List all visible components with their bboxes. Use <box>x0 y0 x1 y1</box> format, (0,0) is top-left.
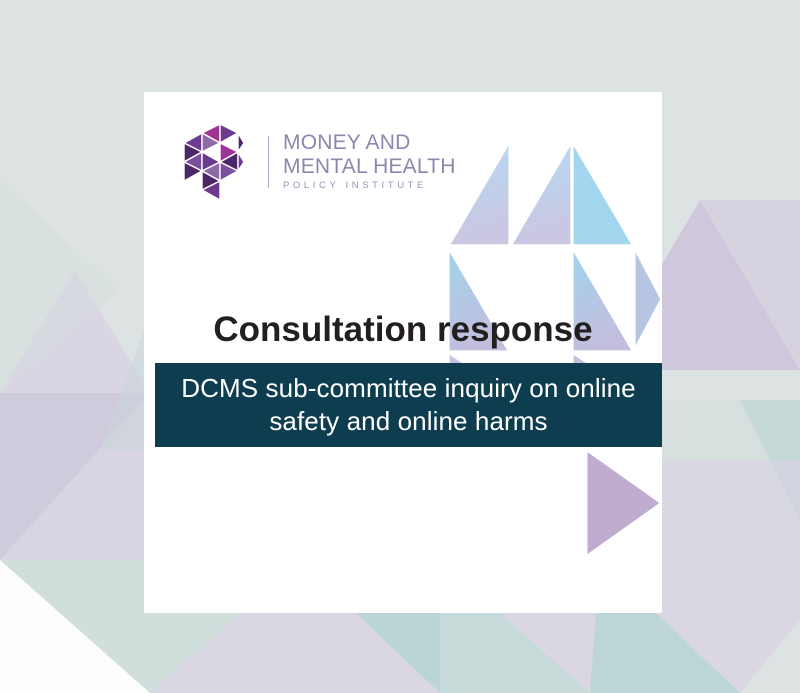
logo-subline: POLICY INSTITUTE <box>283 180 456 192</box>
money-mental-health-hexagon-mark-icon <box>178 124 250 200</box>
logo-wordmark: MONEY AND MENTAL HEALTH POLICY INSTITUTE <box>283 132 456 192</box>
subtitle-banner: DCMS sub-committee inquiry on online saf… <box>155 363 662 447</box>
logo-line-1: MONEY AND <box>283 132 456 153</box>
document-subtitle: DCMS sub-committee inquiry on online saf… <box>169 372 649 438</box>
logo-divider <box>268 136 269 188</box>
logo: MONEY AND MENTAL HEALTH POLICY INSTITUTE <box>178 124 456 200</box>
document-title: Consultation response <box>144 310 662 350</box>
screenshot-canvas: MONEY AND MENTAL HEALTH POLICY INSTITUTE… <box>0 0 800 693</box>
subtitle-line-2: safety and online harms <box>269 406 547 436</box>
logo-line-2: MENTAL HEALTH <box>283 156 456 177</box>
subtitle-line-1: DCMS sub-committee inquiry on online <box>181 373 635 403</box>
lavender-arrow-icon <box>584 447 662 559</box>
document-card: MONEY AND MENTAL HEALTH POLICY INSTITUTE… <box>144 92 662 613</box>
